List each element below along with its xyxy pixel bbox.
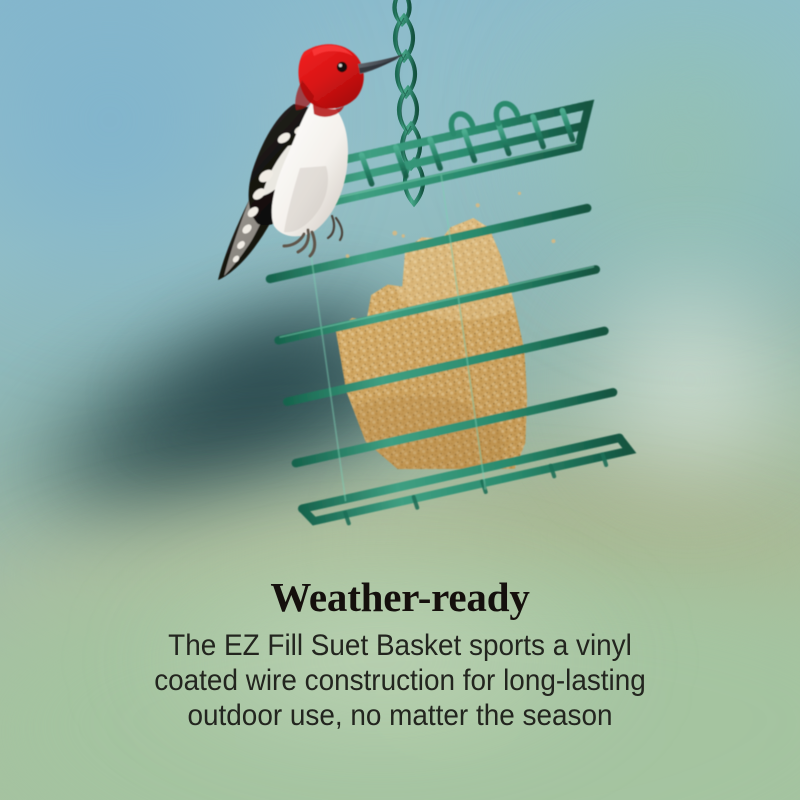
body-line-1: The EZ Fill Suet Basket sports a vinyl xyxy=(65,628,735,663)
body-copy: The EZ Fill Suet Basket sports a vinyl c… xyxy=(65,628,735,733)
headline: Weather-ready xyxy=(40,572,760,622)
bird-eye xyxy=(337,62,347,72)
body-line-2: coated wire construction for long-lastin… xyxy=(65,663,735,698)
red-headed-woodpecker xyxy=(196,18,416,286)
product-lifestyle-image: Weather-ready The EZ Fill Suet Basket sp… xyxy=(0,0,800,800)
body-line-3: outdoor use, no matter the season xyxy=(65,698,735,733)
caption-block: Weather-ready The EZ Fill Suet Basket sp… xyxy=(0,572,800,733)
